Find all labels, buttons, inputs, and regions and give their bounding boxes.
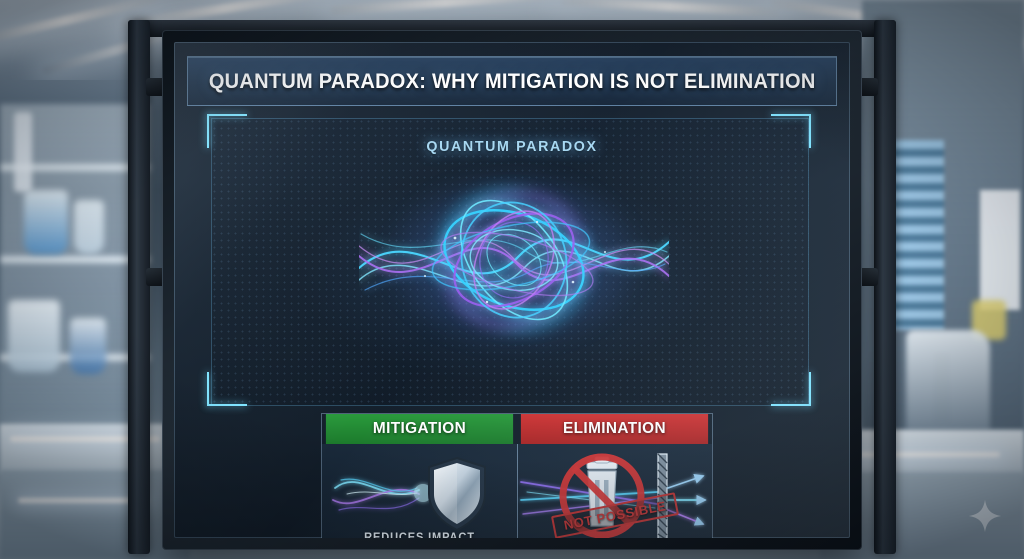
screenshot-root: QUANTUM PARADOX: WHY MITIGATION IS NOT E… bbox=[0, 0, 1024, 559]
comparison-column-mitigation[interactable]: MITIGATION bbox=[322, 414, 517, 538]
flask-blue bbox=[24, 190, 68, 254]
mitigation-header: MITIGATION bbox=[326, 414, 513, 444]
elimination-body: NOT POSSIBLE bbox=[517, 444, 712, 538]
panel-divider bbox=[517, 444, 518, 538]
rig-post-right bbox=[874, 20, 896, 554]
sparkle-icon bbox=[968, 499, 1002, 533]
display-rig: QUANTUM PARADOX: WHY MITIGATION IS NOT E… bbox=[128, 6, 896, 554]
wall-poster bbox=[980, 190, 1020, 310]
page-title: QUANTUM PARADOX: WHY MITIGATION IS NOT E… bbox=[209, 69, 816, 94]
rig-post-left bbox=[128, 20, 150, 554]
trash-prohibited-icon: NOT POSSIBLE bbox=[517, 448, 712, 538]
test-tube bbox=[14, 112, 32, 192]
shield-icon bbox=[322, 454, 517, 534]
flask-blue-2 bbox=[70, 318, 106, 374]
mitigation-caption: REDUCES IMPACT bbox=[326, 532, 513, 538]
corner-bracket-bottom-right bbox=[771, 372, 811, 406]
microscope bbox=[906, 330, 990, 440]
beaker bbox=[8, 300, 60, 372]
screen-bezel: QUANTUM PARADOX: WHY MITIGATION IS NOT E… bbox=[162, 30, 862, 550]
quantum-entanglement-visualization bbox=[359, 160, 669, 360]
mitigation-body: REDUCES IMPACT bbox=[322, 444, 517, 538]
elimination-header: ELIMINATION bbox=[521, 414, 708, 444]
comparison-column-elimination[interactable]: ELIMINATION bbox=[517, 414, 712, 538]
comparison-panel: MITIGATION bbox=[322, 414, 712, 538]
display-screen: QUANTUM PARADOX: WHY MITIGATION IS NOT E… bbox=[174, 42, 850, 538]
holo-subtitle: QUANTUM PARADOX bbox=[191, 138, 833, 155]
corner-bracket-bottom-left bbox=[207, 372, 247, 406]
title-bar: QUANTUM PARADOX: WHY MITIGATION IS NOT E… bbox=[187, 56, 837, 106]
flask-clear bbox=[74, 200, 104, 254]
